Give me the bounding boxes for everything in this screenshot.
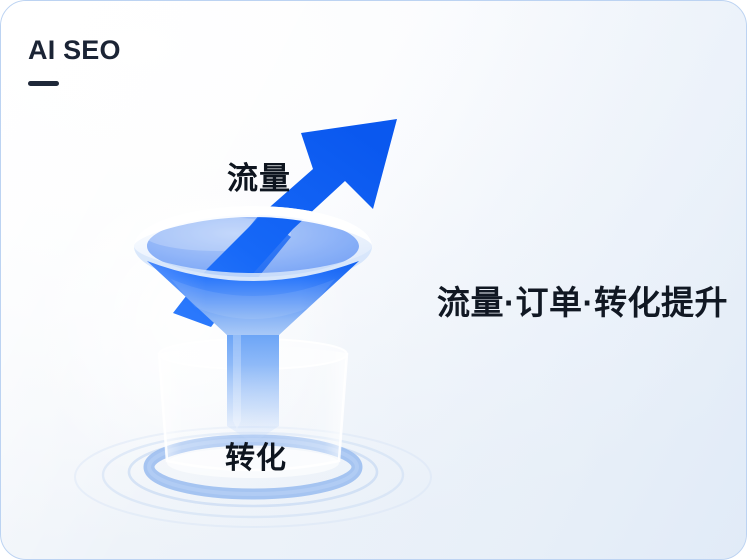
page-title: AI SEO [28,37,121,64]
funnel-stem [227,331,279,443]
header: AI SEO [28,37,121,86]
funnel-label-traffic: 流量 [227,153,291,198]
funnel-label-conversion: 转化 [225,433,287,477]
title-underline-rule [28,81,59,86]
ai-seo-card: AI SEO 流量·订单·转化提升 [0,0,747,560]
tagline-text: 流量·订单·转化提升 [437,276,728,324]
